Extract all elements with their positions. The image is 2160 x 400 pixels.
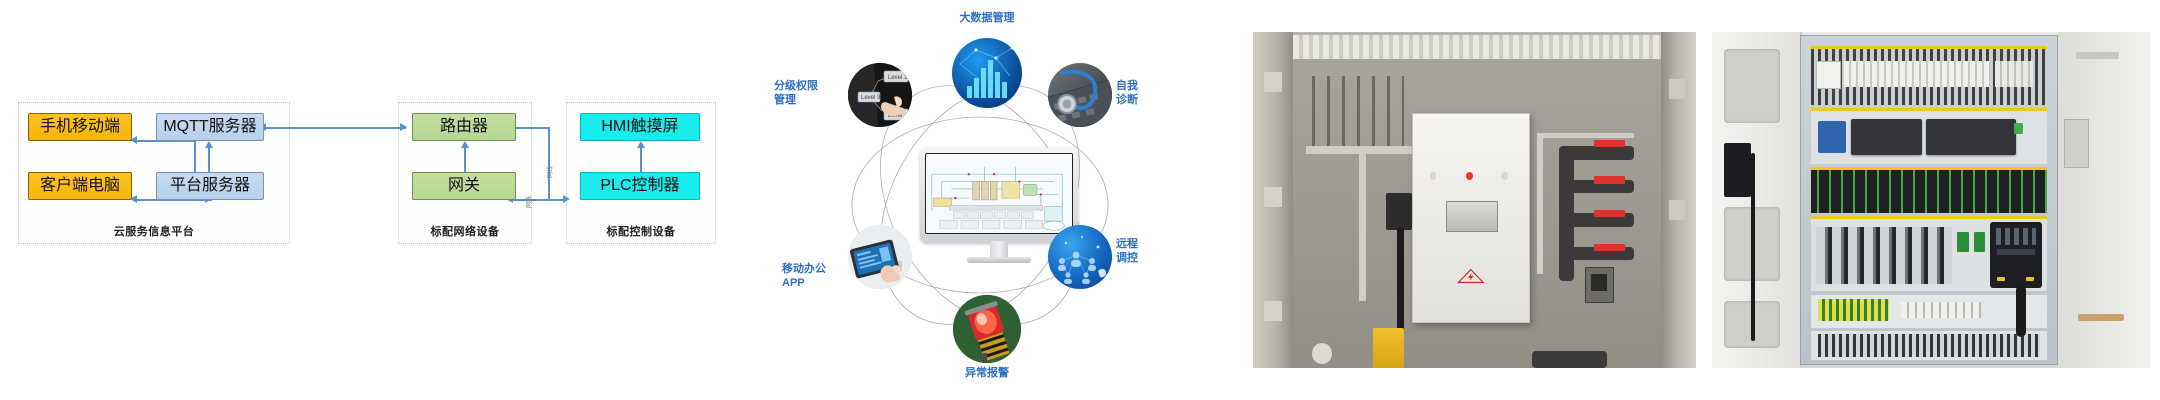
- row-plc-modules: [1811, 108, 2047, 163]
- bubble-remote-control[interactable]: [1048, 225, 1112, 289]
- node-mqtt-server[interactable]: MQTT服务器: [156, 113, 264, 141]
- valve-handle-3: [1594, 210, 1625, 217]
- cabinet-top-louvre: [1293, 35, 1661, 59]
- monitor-bezel: [920, 148, 1078, 243]
- node-gateway[interactable]: 网关: [412, 172, 516, 200]
- group-network-equipment-label: 标配网络设备: [399, 223, 531, 239]
- valve-handle-1: [1594, 140, 1625, 147]
- vfd-keypad[interactable]: [1996, 228, 2035, 245]
- pipe-rail-vertical: [1359, 146, 1366, 301]
- node-plc-controller-label: PLC控制器: [600, 178, 679, 194]
- pipe-riser: [1559, 146, 1575, 280]
- indicator-lamp-right: [1501, 172, 1508, 180]
- dosing-valve-manifold: [1306, 76, 1403, 150]
- bubble-mobile-app-label: 移动办公 APP: [782, 263, 846, 291]
- monitor-screen: [925, 153, 1073, 234]
- variable-frequency-drive: [1990, 222, 2042, 288]
- monitor-base: [967, 257, 1030, 263]
- door-mounted-vfd: [1724, 143, 1750, 197]
- panel-right-door: [2058, 32, 2150, 368]
- door-cable: [1751, 153, 1755, 341]
- valve-handle-2: [1594, 176, 1625, 183]
- door-latch[interactable]: [2064, 119, 2090, 168]
- node-platform-server-label: 平台服务器: [170, 178, 250, 194]
- arrow-up-router: [461, 141, 469, 148]
- node-gateway-label: 网关: [448, 178, 480, 194]
- group-control-equipment-label: 标配控制设备: [567, 223, 715, 239]
- node-mobile-terminal[interactable]: 手机移动端: [28, 113, 132, 141]
- bubble-self-diagnosis[interactable]: [1048, 63, 1112, 127]
- arrow-right-plc: [563, 195, 570, 203]
- lower-black-pipe: [1532, 351, 1607, 368]
- arrow-up-hmi: [637, 141, 645, 148]
- high-voltage-icon: [1457, 264, 1485, 289]
- svg-text:Level 3: Level 3: [861, 95, 881, 101]
- edge-mqtt-router: [264, 127, 406, 129]
- photo-plc-control-panel: [1712, 32, 2150, 368]
- edge-plc-to-router-h: [512, 127, 549, 129]
- vfd-motor-cable: [2016, 285, 2026, 337]
- screenshot-root: 云服务信息平台 标配网络设备 标配控制设备: [0, 0, 2160, 400]
- panel-left-door: [1712, 32, 1802, 368]
- bubble-mobile-app[interactable]: [848, 225, 912, 289]
- bar-chart-network-icon: [952, 38, 1022, 108]
- arrow-up-mqtt: [205, 141, 213, 148]
- power-supply-module: [1818, 121, 1846, 153]
- valve-handle-4: [1594, 244, 1625, 251]
- edge-tag-network-cable-2: 网线: [524, 196, 533, 208]
- row-interface-relays: [1811, 167, 2047, 213]
- bubble-abnormal-alarm-label: 异常报警: [927, 367, 1047, 381]
- scada-mimic-diagram: [926, 154, 1072, 233]
- bubble-permission-management-label: 分级权限 管理: [774, 80, 850, 108]
- frame-rail-right-top: [1537, 133, 1634, 138]
- alarm-beacon-icon: [953, 295, 1021, 363]
- indicator-lamp-left: [1430, 172, 1437, 180]
- panel-architecture-diagram: 云服务信息平台 标配网络设备 标配控制设备: [0, 0, 780, 400]
- row-bottom-terminal-strip: [1811, 331, 2047, 360]
- node-client-pc-label: 客户端电脑: [40, 178, 120, 194]
- node-mqtt-server-label: MQTT服务器: [163, 119, 256, 135]
- electric-shock-warning-label: [1457, 264, 1485, 289]
- edge-tag-network-cable-1: 网线: [545, 166, 554, 178]
- level-hierarchy-icon: Level 1Level 3Level: [848, 63, 912, 127]
- hmi-display-panel[interactable]: [1446, 201, 1499, 232]
- svg-text:Level 1: Level 1: [888, 75, 908, 81]
- edge-plc-to-router-v: [548, 127, 550, 199]
- node-router-label: 路由器: [440, 119, 488, 135]
- panel-capability-wheel: 大数据管理 自我 诊断: [780, 0, 1180, 400]
- plc-cpu-module: [1851, 119, 1922, 156]
- contactor-bank: [1816, 227, 1953, 285]
- indicator-lamp-red: [1466, 172, 1473, 180]
- globe-users-icon: [1048, 225, 1112, 289]
- node-client-pc[interactable]: 客户端电脑: [28, 172, 132, 200]
- bubble-abnormal-alarm[interactable]: [953, 295, 1021, 363]
- tablet-hand-icon: [848, 225, 912, 289]
- row-ground-terminals: [1811, 295, 2047, 328]
- plc-io-module: [1926, 119, 2016, 156]
- photo-outdoor-control-cabinet: [1253, 32, 1696, 368]
- group-cloud-platform-label: 云服务信息平台: [19, 223, 289, 239]
- row-circuit-breakers: [1811, 46, 2047, 105]
- wall-mounted-control-box: [1412, 113, 1529, 323]
- panel-backplate: [1800, 35, 2058, 364]
- node-router[interactable]: 路由器: [412, 113, 516, 141]
- bubble-self-diagnosis-label: 自我 诊断: [1116, 80, 1172, 108]
- row-contactors-and-vfd: [1811, 216, 2047, 291]
- arrow-right-router: [400, 123, 407, 131]
- node-hmi-touchscreen[interactable]: HMI触摸屏: [580, 113, 700, 141]
- node-plc-controller[interactable]: PLC控制器: [580, 172, 700, 200]
- stethoscope-laptop-icon: [1048, 63, 1112, 127]
- bubble-remote-control-label: 远程 调控: [1116, 238, 1172, 266]
- bubble-permission-management[interactable]: Level 1Level 3Level: [848, 63, 912, 127]
- bubble-big-data[interactable]: [952, 38, 1022, 108]
- chemical-drum: [1373, 328, 1404, 368]
- monitor-neck: [990, 241, 1009, 259]
- node-platform-server[interactable]: 平台服务器: [156, 172, 264, 200]
- bubble-big-data-label: 大数据管理: [927, 12, 1047, 26]
- node-hmi-touchscreen-label: HMI触摸屏: [601, 119, 678, 135]
- node-mobile-terminal-label: 手机移动端: [40, 119, 120, 135]
- frame-rail-right: [1537, 133, 1543, 274]
